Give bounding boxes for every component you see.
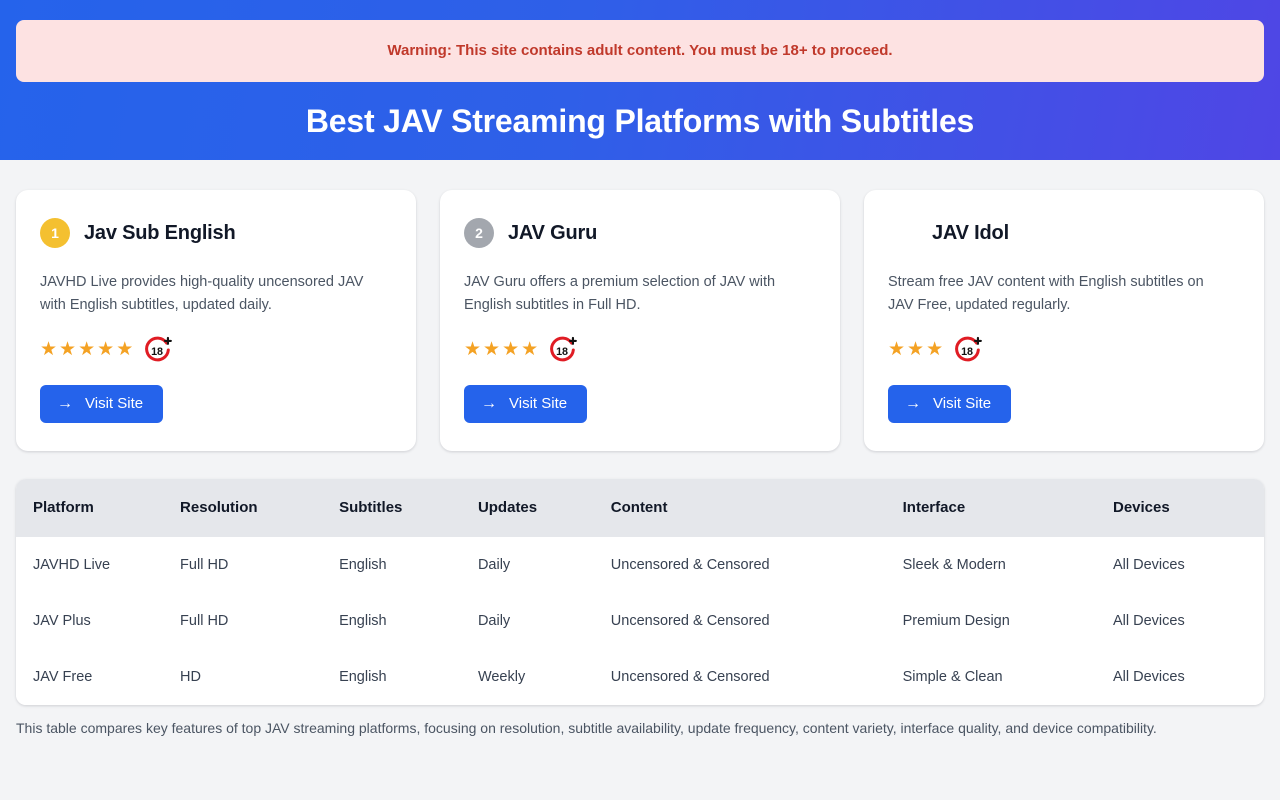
star-icon: ★ <box>888 340 905 359</box>
table-caption: This table compares key features of top … <box>16 717 1231 741</box>
platform-card[interactable]: 2 JAV Guru JAV Guru offers a premium sel… <box>440 190 840 451</box>
star-icon: ★ <box>116 340 133 359</box>
cell-updates: Weekly <box>478 649 611 705</box>
star-icon: ★ <box>59 340 76 359</box>
visit-site-button[interactable]: → Visit Site <box>888 385 1011 423</box>
card-description: JAVHD Live provides high-quality uncenso… <box>40 271 370 318</box>
column-header-resolution: Resolution <box>180 479 339 537</box>
column-header-interface: Interface <box>903 479 1113 537</box>
comparison-table-container: Platform Resolution Subtitles Updates Co… <box>16 479 1264 705</box>
cell-devices: All Devices <box>1113 537 1264 593</box>
cell-interface: Sleek & Modern <box>903 537 1113 593</box>
star-icon: ★ <box>926 340 943 359</box>
table-row: JAVHD Live Full HD English Daily Uncenso… <box>16 537 1264 593</box>
card-title: JAV Guru <box>508 222 597 245</box>
cell-interface: Simple & Clean <box>903 649 1113 705</box>
star-icon: ★ <box>483 340 500 359</box>
cell-devices: All Devices <box>1113 593 1264 649</box>
cell-platform: JAVHD Live <box>16 537 180 593</box>
cell-content: Uncensored & Censored <box>611 537 903 593</box>
star-icon: ★ <box>78 340 95 359</box>
card-description: Stream free JAV content with English sub… <box>888 271 1218 318</box>
card-meta: ★★★★ 18 <box>464 335 816 365</box>
table-head: Platform Resolution Subtitles Updates Co… <box>16 479 1264 537</box>
star-icon: ★ <box>521 340 538 359</box>
column-header-devices: Devices <box>1113 479 1264 537</box>
warning-text: Warning: This site contains adult conten… <box>387 42 892 60</box>
cell-subtitles: English <box>339 593 478 649</box>
column-header-subtitles: Subtitles <box>339 479 478 537</box>
rank-badge: 1 <box>40 218 70 248</box>
card-meta: ★★★★★ 18 <box>40 335 392 365</box>
arrow-right-icon: → <box>481 396 497 412</box>
star-icon: ★ <box>907 340 924 359</box>
cell-platform: JAV Free <box>16 649 180 705</box>
platform-card[interactable]: 1 Jav Sub English JAVHD Live provides hi… <box>16 190 416 451</box>
cell-subtitles: English <box>339 649 478 705</box>
table-row: JAV Free HD English Weekly Uncensored & … <box>16 649 1264 705</box>
visit-site-label: Visit Site <box>933 395 991 412</box>
card-header: JAV Idol <box>888 215 1240 251</box>
star-icon: ★ <box>97 340 114 359</box>
column-header-platform: Platform <box>16 479 180 537</box>
card-title: JAV Idol <box>932 222 1009 245</box>
column-header-content: Content <box>611 479 903 537</box>
cell-interface: Premium Design <box>903 593 1113 649</box>
cell-resolution: HD <box>180 649 339 705</box>
table-row: JAV Plus Full HD English Daily Uncensore… <box>16 593 1264 649</box>
card-title: Jav Sub English <box>84 222 235 245</box>
platform-card[interactable]: JAV Idol Stream free JAV content with En… <box>864 190 1264 451</box>
table-header-row: Platform Resolution Subtitles Updates Co… <box>16 479 1264 537</box>
visit-site-button[interactable]: → Visit Site <box>464 385 587 423</box>
comparison-table: Platform Resolution Subtitles Updates Co… <box>16 479 1264 705</box>
visit-site-button[interactable]: → Visit Site <box>40 385 163 423</box>
page-header: Warning: This site contains adult conten… <box>0 0 1280 160</box>
star-icon: ★ <box>40 340 57 359</box>
svg-text:18: 18 <box>556 346 568 358</box>
cell-platform: JAV Plus <box>16 593 180 649</box>
cell-updates: Daily <box>478 593 611 649</box>
visit-site-label: Visit Site <box>509 395 567 412</box>
star-icon: ★ <box>464 340 481 359</box>
rank-badge: 2 <box>464 218 494 248</box>
star-rating: ★★★★ <box>464 340 538 359</box>
arrow-right-icon: → <box>57 396 73 412</box>
platform-cards-row: 1 Jav Sub English JAVHD Live provides hi… <box>0 160 1280 451</box>
column-header-updates: Updates <box>478 479 611 537</box>
card-description: JAV Guru offers a premium selection of J… <box>464 271 794 318</box>
cell-content: Uncensored & Censored <box>611 593 903 649</box>
cell-content: Uncensored & Censored <box>611 649 903 705</box>
card-header: 2 JAV Guru <box>464 215 816 251</box>
svg-text:18: 18 <box>151 346 163 358</box>
age-18-plus-icon: 18 <box>548 335 578 365</box>
cell-updates: Daily <box>478 537 611 593</box>
page-title: Best JAV Streaming Platforms with Subtit… <box>16 103 1264 140</box>
table-body: JAVHD Live Full HD English Daily Uncenso… <box>16 537 1264 705</box>
cell-subtitles: English <box>339 537 478 593</box>
visit-site-label: Visit Site <box>85 395 143 412</box>
age-18-plus-icon: 18 <box>953 335 983 365</box>
svg-text:18: 18 <box>961 346 973 358</box>
star-rating: ★★★★★ <box>40 340 133 359</box>
cell-resolution: Full HD <box>180 593 339 649</box>
star-icon: ★ <box>502 340 519 359</box>
card-meta: ★★★ 18 <box>888 335 1240 365</box>
age-18-plus-icon: 18 <box>143 335 173 365</box>
star-rating: ★★★ <box>888 340 943 359</box>
adult-content-warning-banner: Warning: This site contains adult conten… <box>16 20 1264 82</box>
arrow-right-icon: → <box>905 396 921 412</box>
card-header: 1 Jav Sub English <box>40 215 392 251</box>
cell-resolution: Full HD <box>180 537 339 593</box>
cell-devices: All Devices <box>1113 649 1264 705</box>
